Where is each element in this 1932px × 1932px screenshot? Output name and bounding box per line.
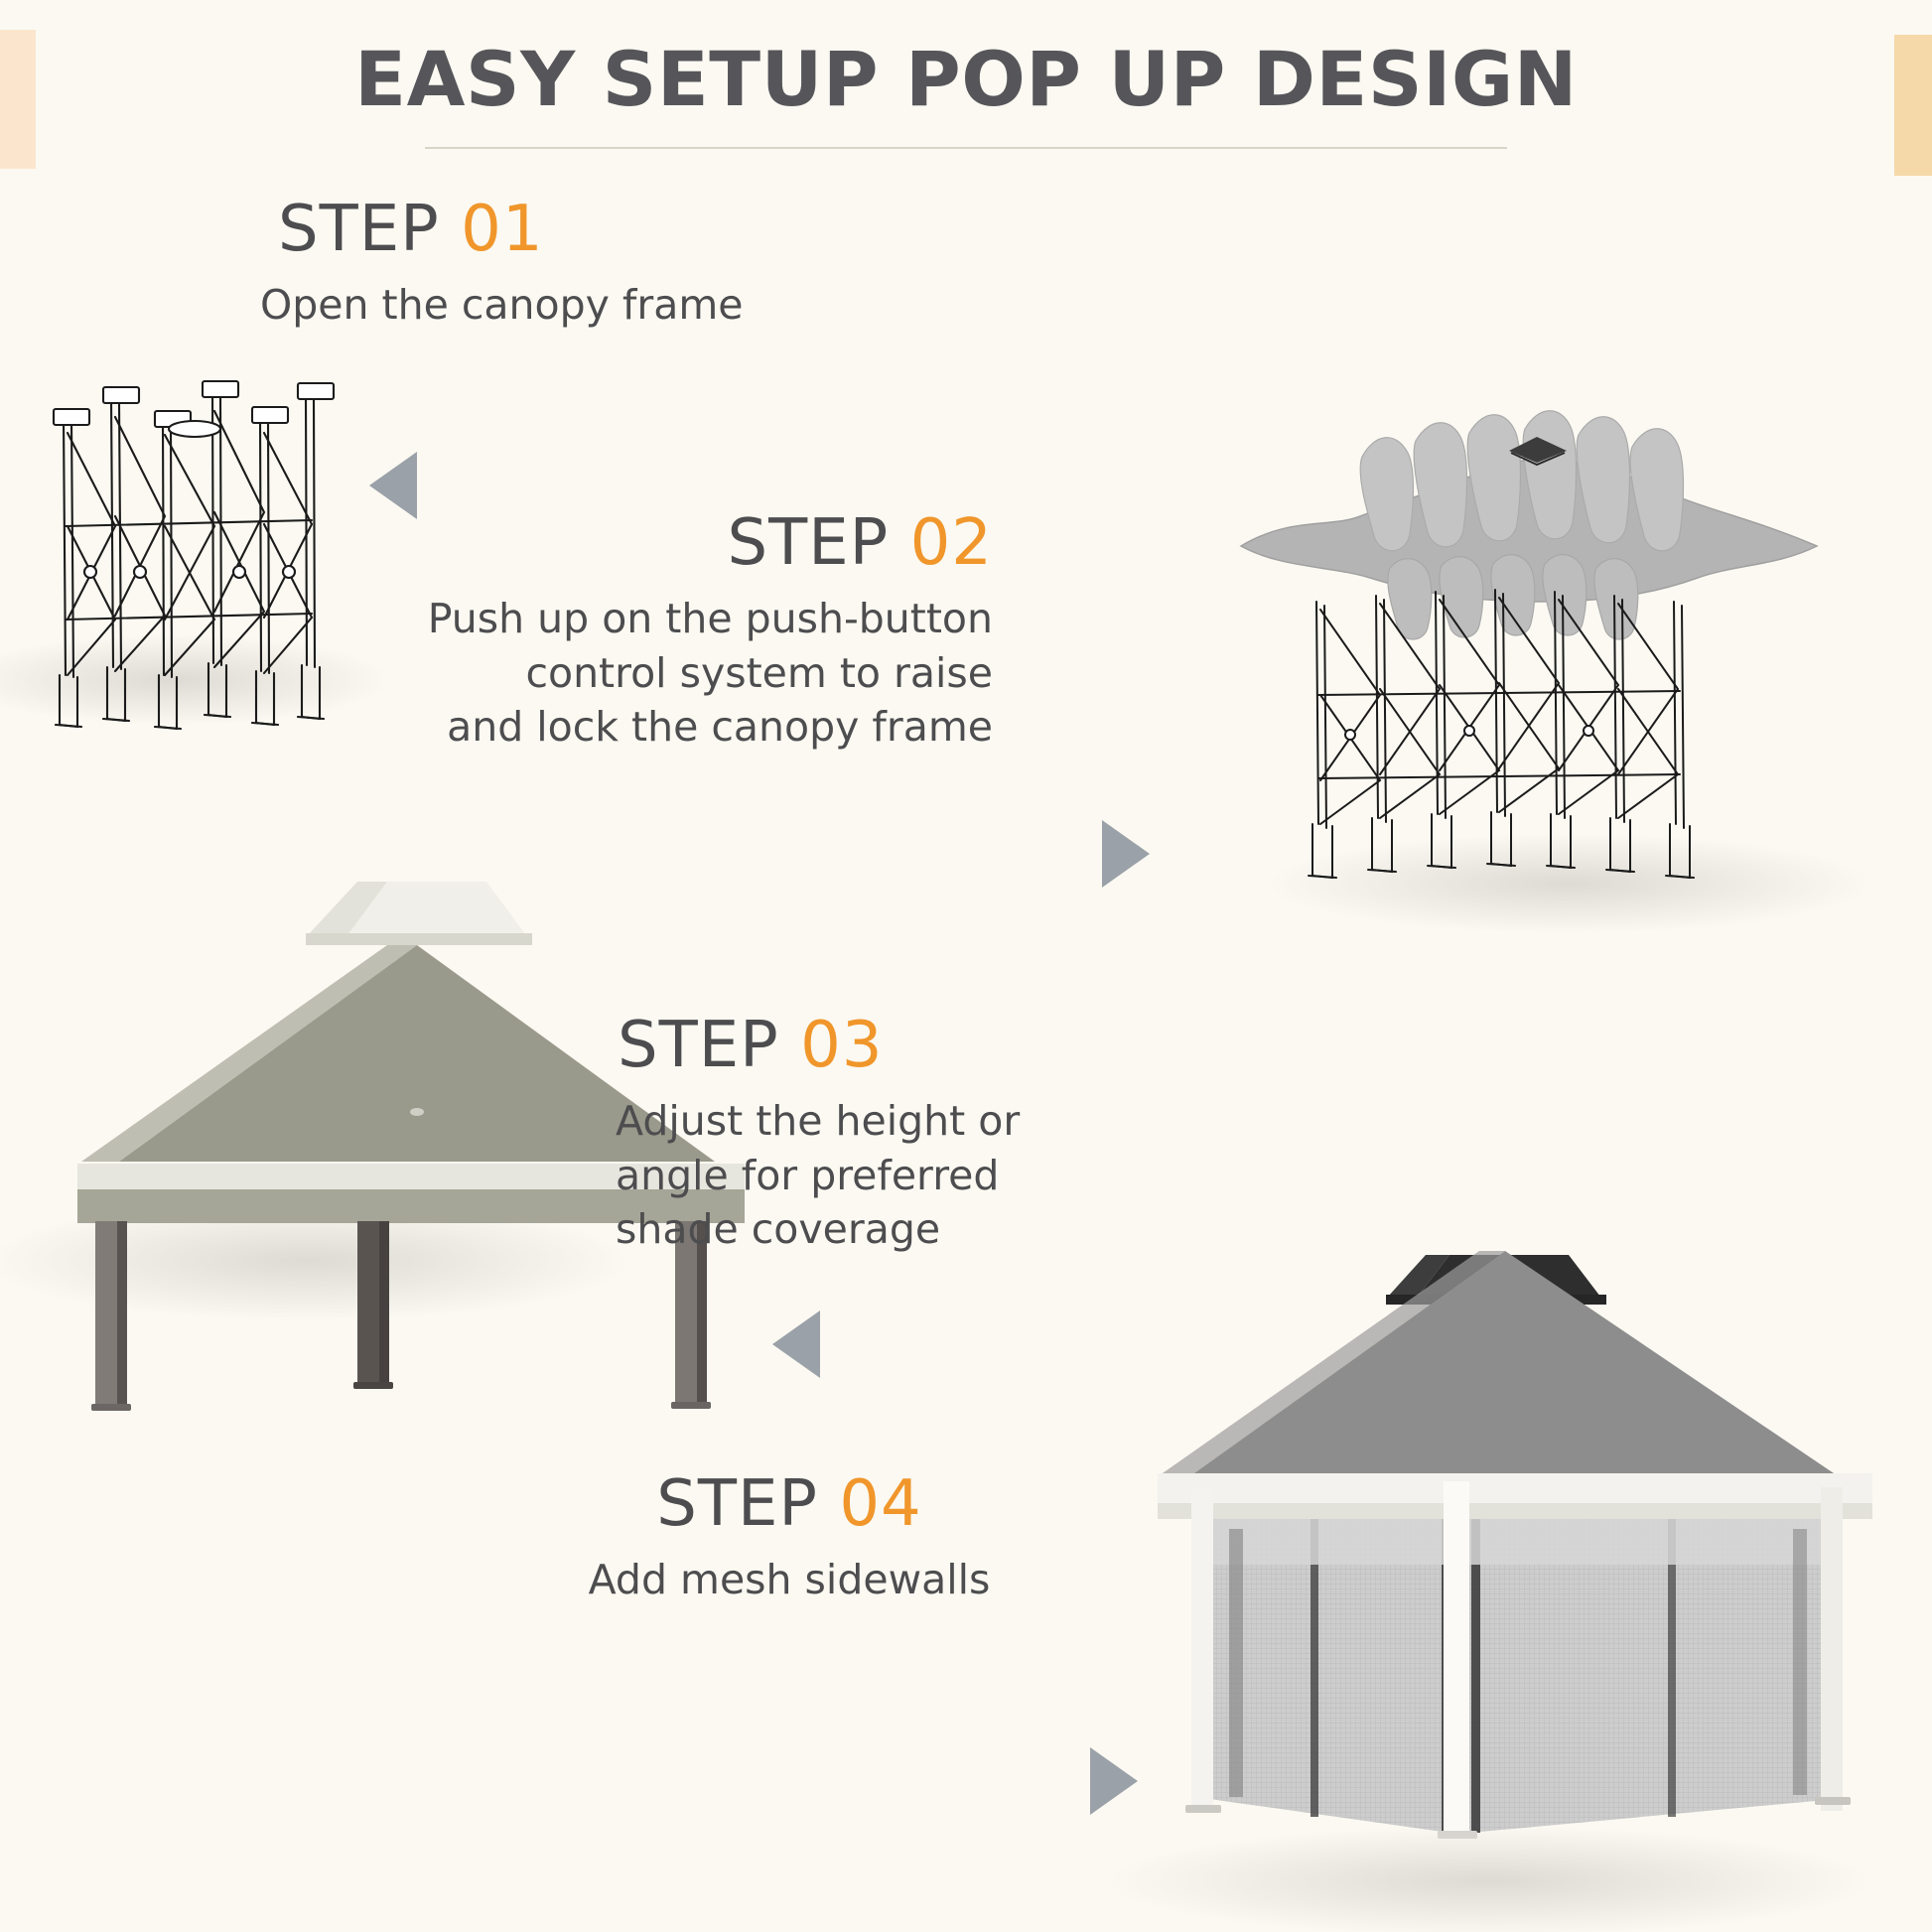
step-4-number: 04 bbox=[839, 1467, 921, 1541]
step-2-description: Push up on the push-button control syste… bbox=[417, 592, 993, 753]
step-3-description-line-1: Adjust the height or bbox=[616, 1094, 1033, 1148]
step-4-label: STEP bbox=[656, 1467, 818, 1541]
step-3-number: 03 bbox=[800, 1009, 883, 1082]
illustration-gazebo-with-mesh-sidewalls bbox=[1152, 1231, 1886, 1886]
step-2-label: STEP bbox=[727, 506, 889, 580]
step-block-3: STEP 03 Adjust the height or angle for p… bbox=[616, 1011, 1033, 1256]
header: EASY SETUP POP UP DESIGN bbox=[0, 40, 1932, 149]
step-4-heading: STEP 04 bbox=[566, 1469, 1013, 1539]
step-1-number: 01 bbox=[461, 193, 543, 266]
step-3-heading: STEP 03 bbox=[616, 1011, 1033, 1080]
triangle-left-icon-step-3 bbox=[772, 1311, 820, 1378]
triangle-right-icon-step-2 bbox=[1102, 820, 1150, 888]
step-block-4: STEP 04 Add mesh sidewalls bbox=[566, 1469, 1013, 1607]
step-3-label: STEP bbox=[618, 1009, 779, 1082]
step-block-1: STEP 01 Open the canopy frame bbox=[260, 195, 744, 333]
step-1-heading: STEP 01 bbox=[260, 195, 744, 264]
triangle-left-icon-step-1 bbox=[369, 452, 417, 519]
step-2-description-line-2: control system to raise bbox=[417, 646, 993, 700]
step-3-description: Adjust the height or angle for preferred… bbox=[616, 1094, 1033, 1255]
step-block-2: STEP 02 Push up on the push-button contr… bbox=[417, 508, 993, 754]
step-4-description: Add mesh sidewalls bbox=[566, 1553, 1013, 1606]
illustration-frame-with-draped-canopy bbox=[1221, 397, 1837, 973]
step-2-description-line-1: Push up on the push-button bbox=[417, 592, 993, 645]
infographic-canvas: EASY SETUP POP UP DESIGN bbox=[0, 0, 1932, 1932]
step-3-description-line-2: angle for preferred bbox=[616, 1149, 1033, 1202]
triangle-right-icon-step-4 bbox=[1090, 1747, 1138, 1815]
step-2-number: 02 bbox=[910, 506, 993, 580]
step-1-description: Open the canopy frame bbox=[260, 278, 744, 332]
step-2-description-line-3: and lock the canopy frame bbox=[417, 700, 993, 754]
page-title: EASY SETUP POP UP DESIGN bbox=[0, 40, 1932, 119]
step-2-heading: STEP 02 bbox=[417, 508, 993, 578]
title-divider bbox=[425, 147, 1507, 149]
step-3-description-line-3: shade coverage bbox=[616, 1202, 1033, 1256]
step-1-label: STEP bbox=[278, 193, 440, 266]
illustration-folded-canopy-frame bbox=[46, 377, 353, 794]
